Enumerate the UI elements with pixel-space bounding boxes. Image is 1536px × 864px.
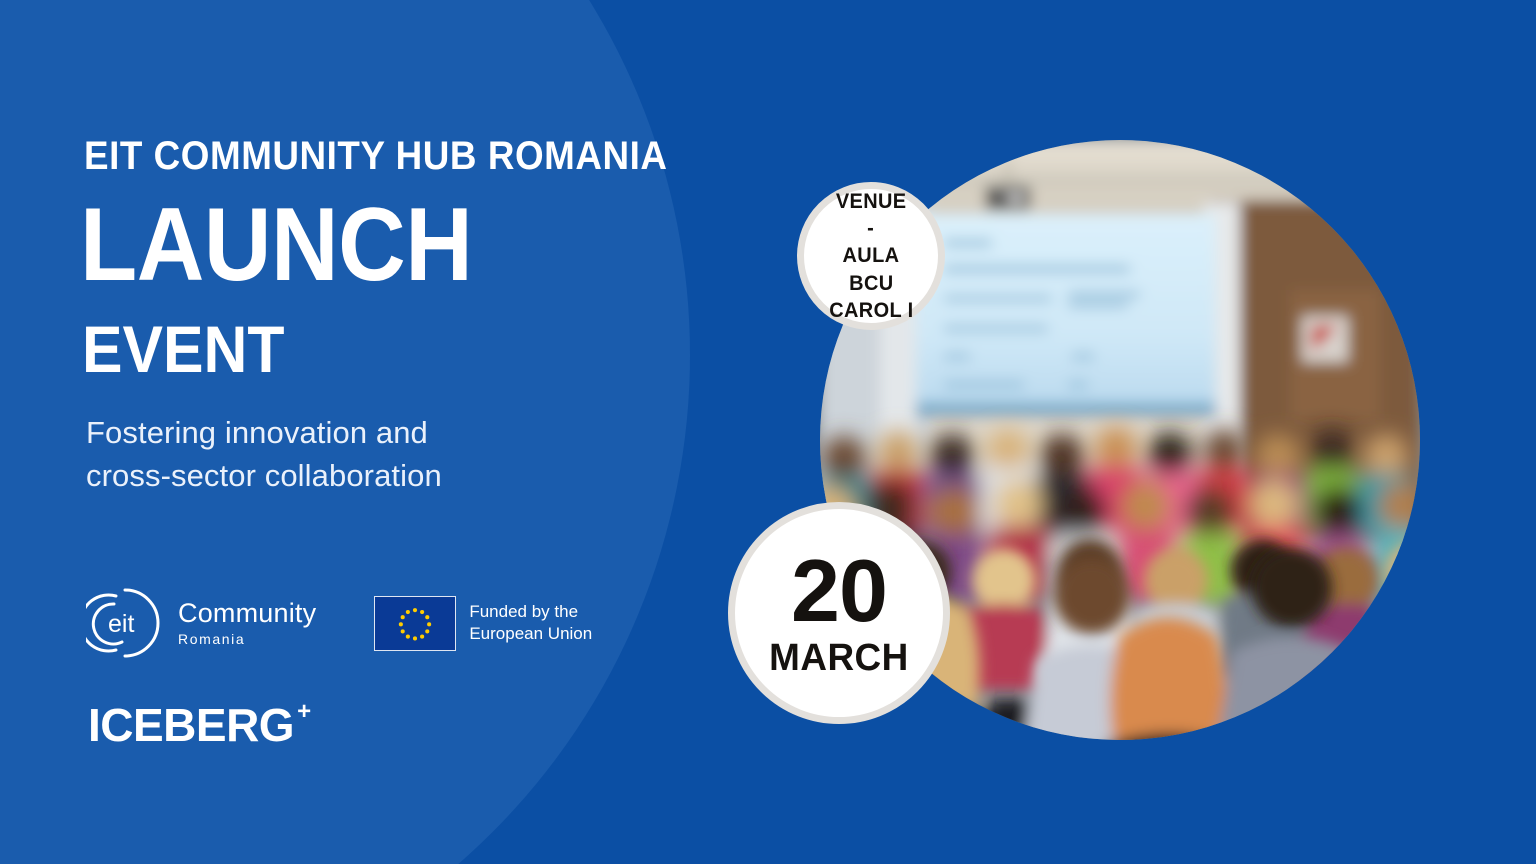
european-union-flag-icon [374,596,456,651]
eit-community-logo: eit Community Romania [86,584,316,662]
eu-funding-logo: Funded by the European Union [374,596,592,651]
eit-romania-label: Romania [178,632,316,646]
page-title-line1: LAUNCH [80,196,472,296]
page-title-line2: EVENT [82,316,284,382]
venue-badge: VENUE - AULA BCU CAROL I [797,182,945,330]
logo-row: eit Community Romania [86,584,592,662]
eu-funding-text: Funded by the European Union [469,601,592,646]
page-subtitle: Fostering innovation and cross-sector co… [86,412,442,498]
iceberg-wordmark: ICEBERG [88,698,294,752]
eit-logo-wordmark: Community Romania [178,600,316,646]
date-badge: 20 MARCH [728,502,950,724]
page-subtitle-line1: Fostering innovation and [86,412,442,455]
eu-funding-line1: Funded by the [469,601,592,623]
eit-logo-icon: eit [86,584,164,662]
iceberg-logo: ICEBERG + [88,698,311,752]
venue-line-5: CAROL I [829,297,913,324]
page-subtitle-line2: cross-sector collaboration [86,455,442,498]
eu-funding-line2: European Union [469,623,592,645]
venue-line-3: AULA [843,242,900,269]
date-day: 20 [791,549,887,633]
left-content-column: EIT COMMUNITY HUB ROMANIA LAUNCH EVENT F… [84,0,784,864]
svg-text:eit: eit [108,610,134,638]
event-banner: EIT COMMUNITY HUB ROMANIA LAUNCH EVENT F… [0,0,1536,864]
venue-line-4: BCU [849,270,893,297]
eit-community-label: Community [178,600,316,627]
iceberg-plus-icon: + [297,700,311,724]
venue-line-2: - [867,215,874,242]
date-month: MARCH [769,639,909,677]
page-kicker: EIT COMMUNITY HUB ROMANIA [84,134,668,179]
venue-line-1: VENUE [836,188,907,215]
